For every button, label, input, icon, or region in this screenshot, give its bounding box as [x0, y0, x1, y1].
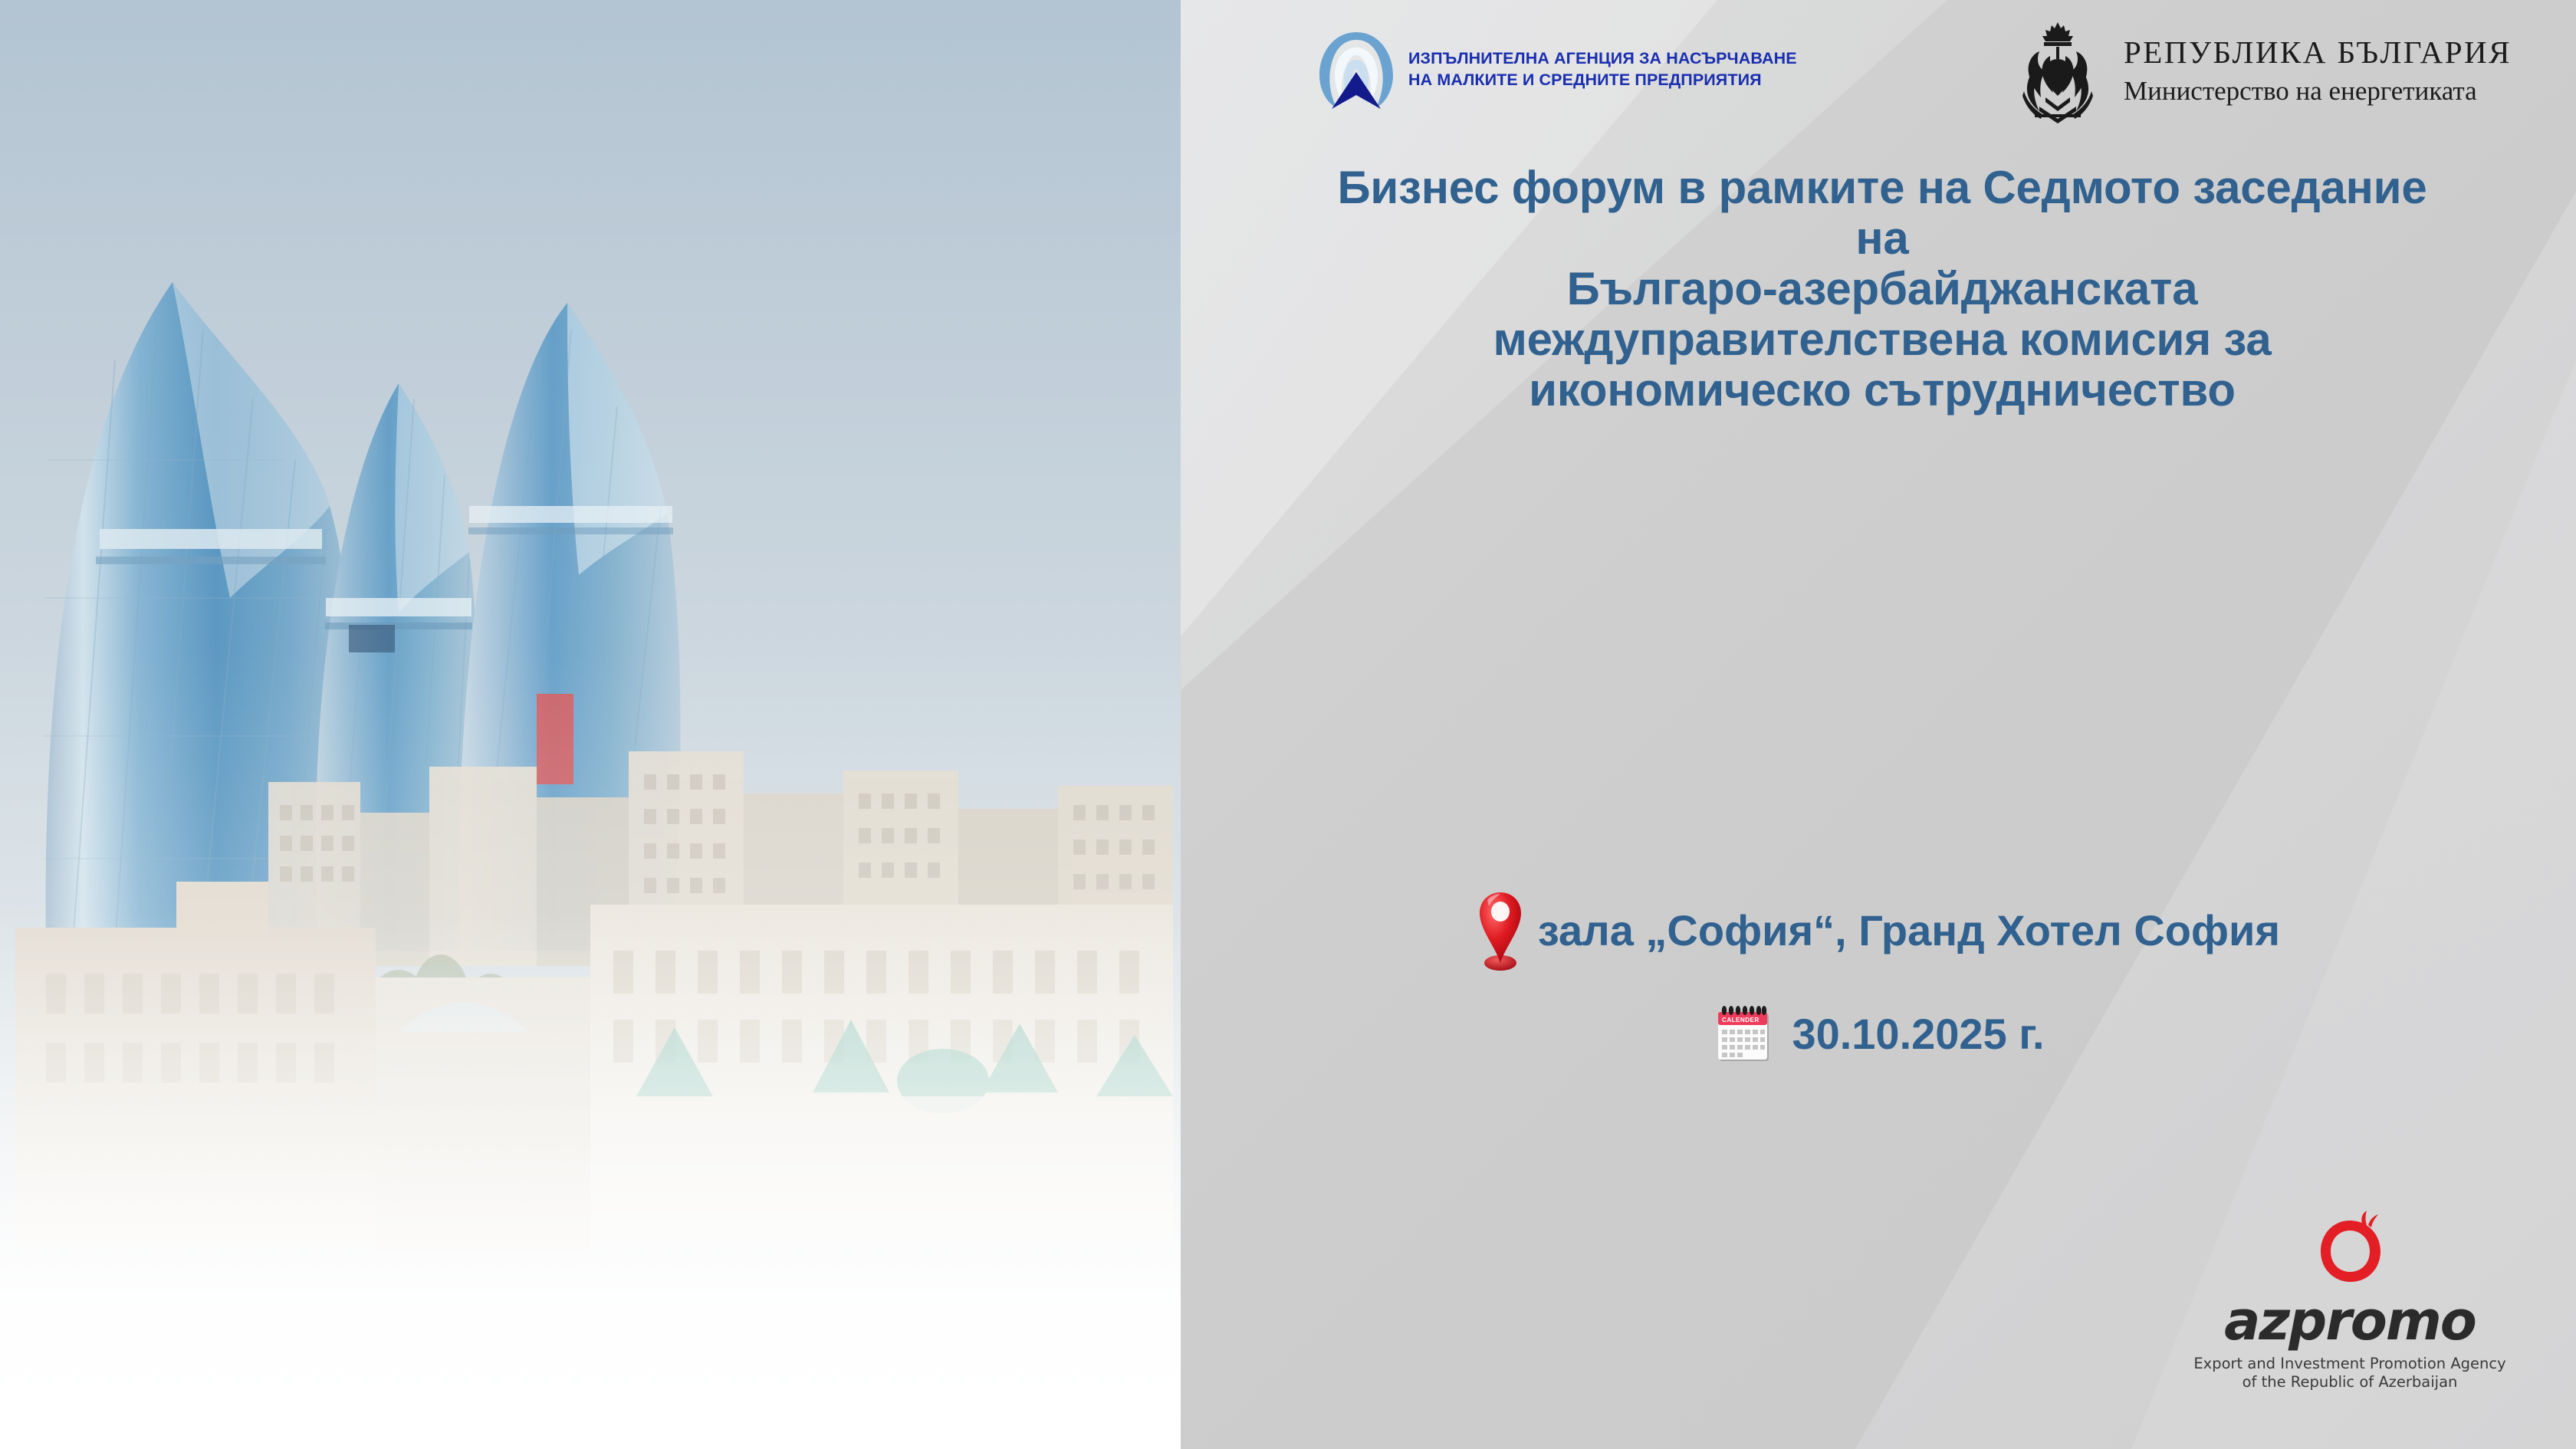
- republic-logo-line-1: РЕПУБЛИКА БЪЛГАРИЯ: [2124, 34, 2512, 71]
- azpromo-pomegranate-icon: [2307, 1205, 2393, 1291]
- title-line-3: Българо-азербайджанската: [1196, 264, 2568, 314]
- azpromo-tagline-line-1: Export and Investment Promotion Agency: [2170, 1355, 2530, 1374]
- photo-bottom-fade: [0, 912, 1181, 1449]
- azpromo-tagline: Export and Investment Promotion Agency o…: [2170, 1355, 2530, 1393]
- title-line-5: икономическо сътрудничество: [1196, 365, 2568, 416]
- title-line-2: на: [1196, 213, 2568, 264]
- map-pin-icon: [1477, 889, 1524, 972]
- presentation-slide: ИЗПЪЛНИТЕЛНА АГЕНЦИЯ ЗА НАСЪРЧАВАНЕ НА М…: [0, 0, 2576, 1449]
- iasme-logo-line-1: ИЗПЪЛНИТЕЛНА АГЕНЦИЯ ЗА НАСЪРЧАВАНЕ: [1408, 48, 1797, 69]
- svg-text:CALENDER: CALENDER: [1722, 1017, 1760, 1024]
- baku-flame-towers-photo: [0, 0, 1181, 1449]
- date-row: CALENDER: [1181, 1001, 2576, 1067]
- azpromo-tagline-line-2: of the Republic of Azerbaijan: [2170, 1373, 2530, 1392]
- venue-row: зала „София“, Гранд Хотел София: [1181, 889, 2576, 972]
- title-line-4: междуправителствена комисия за: [1196, 314, 2568, 365]
- republic-logo-line-2: Министерство на енергетиката: [2124, 74, 2512, 109]
- event-details: зала „София“, Гранд Хотел София CALENDER: [1181, 889, 2576, 1067]
- calendar-icon: CALENDER: [1712, 1001, 1778, 1067]
- iasme-arc-mark-icon: [1315, 28, 1398, 110]
- venue-text: зала „София“, Гранд Хотел София: [1538, 909, 2280, 954]
- azpromo-wordmark: azpromo: [2170, 1296, 2530, 1347]
- content-panel: ИЗПЪЛНИТЕЛНА АГЕНЦИЯ ЗА НАСЪРЧАВАНЕ НА М…: [1181, 0, 2576, 1449]
- date-text: 30.10.2025 г.: [1792, 1012, 2044, 1057]
- iasme-logo-line-2: НА МАЛКИТЕ И СРЕДНИТЕ ПРЕДПРИЯТИЯ: [1408, 69, 1797, 90]
- bulgarian-coat-of-arms-icon: [2009, 18, 2107, 125]
- azpromo-logo: azpromo Export and Investment Promotion …: [2170, 1205, 2530, 1392]
- page-title: Бизнес форум в рамките на Седмото заседа…: [1196, 163, 2568, 416]
- logo-bar: ИЗПЪЛНИТЕЛНА АГЕНЦИЯ ЗА НАСЪРЧАВАНЕ НА М…: [1181, 0, 2576, 153]
- republic-of-bulgaria-logo: РЕПУБЛИКА БЪЛГАРИЯ Министерство на енерг…: [2009, 14, 2545, 129]
- title-line-1: Бизнес форум в рамките на Седмото заседа…: [1196, 163, 2568, 213]
- iasme-logo: ИЗПЪЛНИТЕЛНА АГЕНЦИЯ ЗА НАСЪРЧАВАНЕ НА М…: [1315, 23, 1821, 115]
